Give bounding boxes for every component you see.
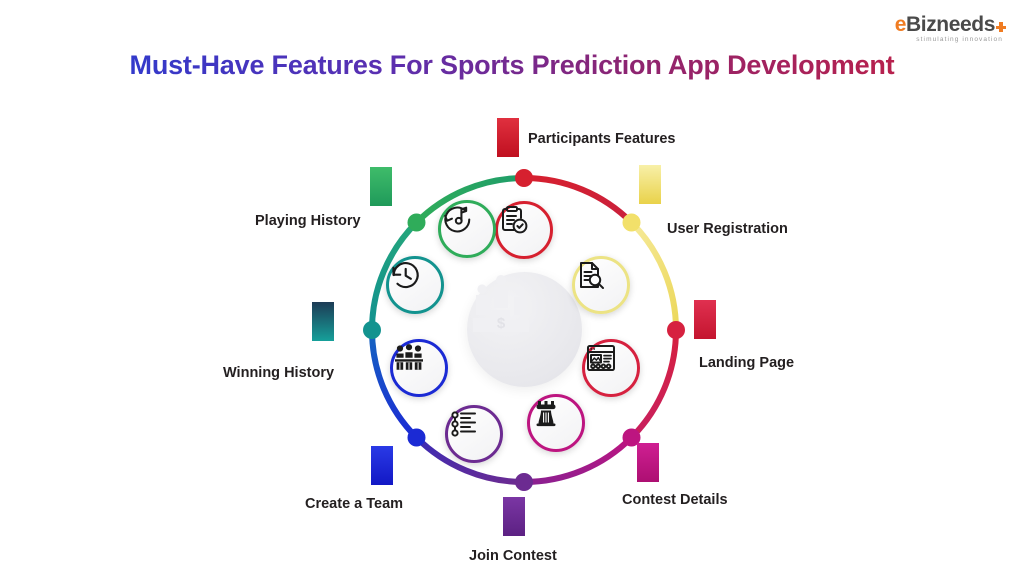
wheel-hub: $ [467,272,582,387]
step-number-6: 6 [371,446,393,485]
step-label-1: Participants Features [528,132,675,147]
cycle-node-5 [515,473,533,491]
cycle-node-7 [363,321,381,339]
step-number-4: 4 [637,443,659,482]
step-icon-3[interactable] [582,339,640,397]
step-number-2: 2 [639,165,661,204]
step-label-6: Create a Team [305,497,403,512]
clipboard-check-icon [498,204,530,236]
step-icon-7[interactable] [386,256,444,314]
plus-mark-icon [996,22,1006,32]
document-search-icon [575,259,607,291]
step-number-8: 8 [370,167,392,206]
replay-play-icon [441,203,474,236]
step-number-5: 5 [503,497,525,536]
step-label-8: Playing History [255,214,361,229]
infographic-canvas: eBizneeds stimulating innovation Must-Ha… [0,0,1024,576]
cycle-node-8 [408,214,426,232]
brand-logo[interactable]: eBizneeds stimulating innovation [895,14,1006,44]
cycle-node-3 [667,321,685,339]
cycle-node-2 [623,214,641,232]
cycle-node-1 [515,169,533,187]
brand-logo-wordmark: eBizneeds [895,14,1006,35]
step-label-2: User Registration [667,222,788,237]
step-icon-5[interactable] [445,405,503,463]
page-title: Must-Have Features For Sports Prediction… [0,50,1024,81]
step-icon-4[interactable] [527,394,585,452]
step-number-3: 3 [694,300,716,339]
step-icon-6[interactable] [390,339,448,397]
step-number-7: 7 [312,302,334,341]
brand-logo-rest: Bizneeds [906,13,995,36]
step-label-7: Winning History [223,366,334,381]
svg-text:$: $ [497,315,506,332]
brand-tagline: stimulating innovation [895,37,1003,44]
step-icon-2[interactable] [572,256,630,314]
step-label-4: Contest Details [622,493,728,508]
trophy-column-icon [530,397,562,429]
step-icon-8[interactable] [438,200,496,258]
cycle-wheel: $ [262,110,762,550]
step-label-5: Join Contest [469,549,557,564]
team-meeting-icon [393,342,425,374]
brand-logo-e: e [895,13,906,36]
checklist-timeline-icon [448,408,480,440]
landing-page-browser-icon [585,342,617,374]
clock-history-icon [389,259,422,292]
step-number-1: 1 [497,118,519,157]
step-icon-1[interactable] [495,201,553,259]
cycle-node-6 [408,429,426,447]
podium-winners-dollar-icon: $ [467,272,535,336]
step-label-3: Landing Page [699,356,794,371]
